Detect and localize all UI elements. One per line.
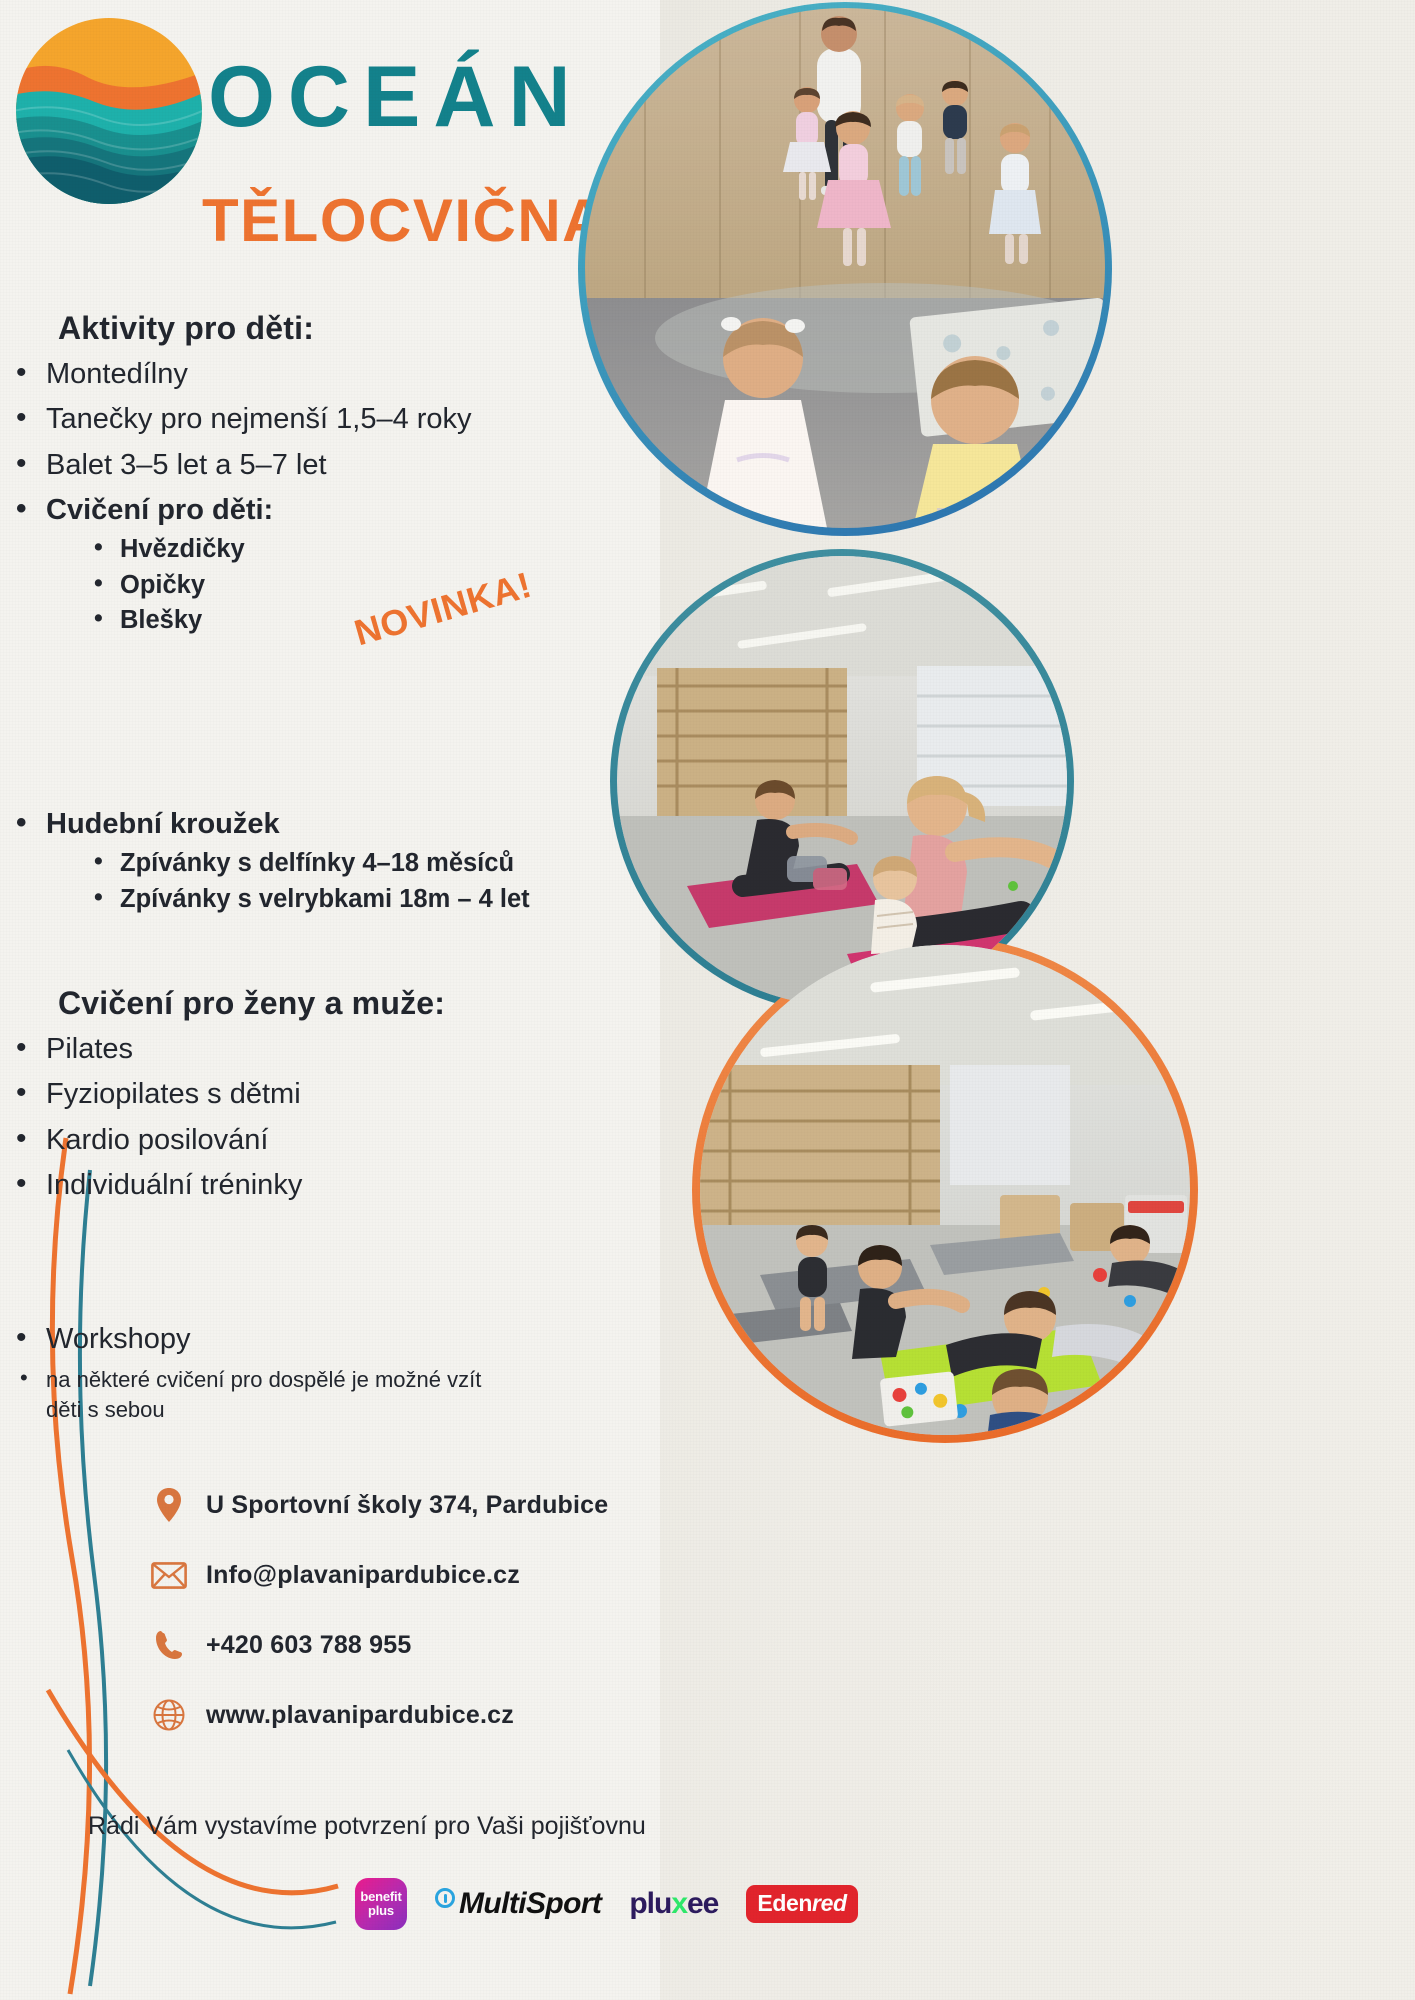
list-item: Hvězdičky — [86, 533, 620, 567]
list-item: Individuální tréninky — [0, 1166, 620, 1204]
contact-row-email[interactable]: Info@plavanipardubice.cz — [150, 1540, 608, 1610]
benefit-plus-line1: benefit — [360, 1890, 401, 1904]
globe-icon — [150, 1699, 188, 1731]
list-item: Cvičení pro děti: Hvězdičky Opičky Blešk… — [0, 491, 620, 638]
multisport-mark-icon — [435, 1888, 455, 1908]
partner-logo-pluxee: pluxee — [629, 1887, 718, 1921]
website-text: www.plavanipardubice.cz — [206, 1701, 514, 1730]
contact-row-address[interactable]: U Sportovní školy 374, Pardubice — [150, 1470, 608, 1540]
music-list: Hudební kroužek Zpívánky s delfínky 4–18… — [0, 805, 620, 917]
envelope-icon — [150, 1562, 188, 1589]
section-adults-heading: Cvičení pro ženy a muže: — [58, 985, 620, 1022]
pluxee-label-a: plu — [629, 1887, 671, 1920]
list-item-label: Tanečky pro nejmenší 1,5–4 roky — [46, 403, 472, 435]
benefit-plus-line2: plus — [368, 1904, 394, 1918]
list-item: Balet 3–5 let a 5–7 let — [0, 446, 620, 484]
insurance-note: Rádi Vám vystavíme potvrzení pro Vaši po… — [88, 1812, 646, 1841]
brand-name: OCEÁN — [208, 48, 584, 147]
list-item: Kardio posilování — [0, 1121, 620, 1159]
partner-logo-edenred: Edenred — [746, 1885, 857, 1923]
list-item-label: Hudební kroužek — [46, 808, 280, 840]
email-text: Info@plavanipardubice.cz — [206, 1561, 520, 1590]
contact-row-website[interactable]: www.plavanipardubice.cz — [150, 1680, 608, 1750]
location-pin-icon — [150, 1488, 188, 1522]
contact-row-phone[interactable]: +420 603 788 955 — [150, 1610, 608, 1680]
contact-block: U Sportovní školy 374, Pardubice Info@pl… — [150, 1470, 608, 1750]
list-item: Workshopy — [0, 1320, 620, 1358]
photo-group-floor-class — [700, 945, 1190, 1435]
pluxee-label-b: ee — [687, 1887, 718, 1920]
list-item: Zpívánky s delfínky 4–18 měsíců — [86, 847, 620, 881]
partner-logo-multisport: MultiSport — [435, 1887, 601, 1921]
list-item: Hudební kroužek Zpívánky s delfínky 4–18… — [0, 805, 620, 917]
address-text: U Sportovní školy 374, Pardubice — [206, 1491, 608, 1520]
workshops-note: na některé cvičení pro dospělé je možné … — [0, 1365, 500, 1424]
workshops-list: Workshopy — [0, 1320, 620, 1358]
multisport-label: MultiSport — [459, 1887, 601, 1921]
pluxee-label-x: x — [671, 1887, 687, 1920]
list-item-label: Montedílny — [46, 358, 188, 390]
edenred-label-b: red — [812, 1890, 847, 1916]
music-sublist: Zpívánky s delfínky 4–18 měsíců Zpívánky… — [86, 847, 620, 916]
brand-subtitle: TĚLOCVIČNA — [202, 186, 607, 255]
partner-logos: benefit plus MultiSport pluxee Edenred — [355, 1878, 858, 1930]
list-item: Zpívánky s velrybkami 18m – 4 let — [86, 883, 620, 917]
adults-list: Pilates Fyziopilates s dětmi Kardio posi… — [0, 1030, 620, 1204]
list-item: Montedílny — [0, 355, 620, 393]
list-item: Opičky — [86, 569, 620, 603]
section-workshops: Workshopy na některé cvičení pro dospělé… — [0, 1320, 620, 1425]
section-kids-heading: Aktivity pro děti: — [58, 310, 620, 347]
brand-logo-area: OCEÁN TĚLOCVIČNA — [14, 8, 594, 268]
list-item: Tanečky pro nejmenší 1,5–4 roky — [0, 400, 620, 438]
phone-icon — [150, 1630, 188, 1660]
photo-mothers-stretching — [617, 556, 1067, 1006]
partner-logo-benefit-plus: benefit plus — [355, 1878, 407, 1930]
photo-kids-dance-class — [585, 8, 1105, 528]
section-adults: Cvičení pro ženy a muže: Pilates Fyziopi… — [0, 985, 620, 1211]
section-music: Hudební kroužek Zpívánky s delfínky 4–18… — [0, 805, 620, 924]
phone-text: +420 603 788 955 — [206, 1631, 411, 1660]
edenred-label-a: Eden — [757, 1890, 812, 1916]
list-item-label: Balet 3–5 let a 5–7 let — [46, 449, 327, 481]
ocean-sunset-circle-logo — [14, 16, 204, 206]
list-item-label: Cvičení pro děti: — [46, 494, 273, 526]
list-item: Fyziopilates s dětmi — [0, 1075, 620, 1113]
list-item: Pilates — [0, 1030, 620, 1068]
